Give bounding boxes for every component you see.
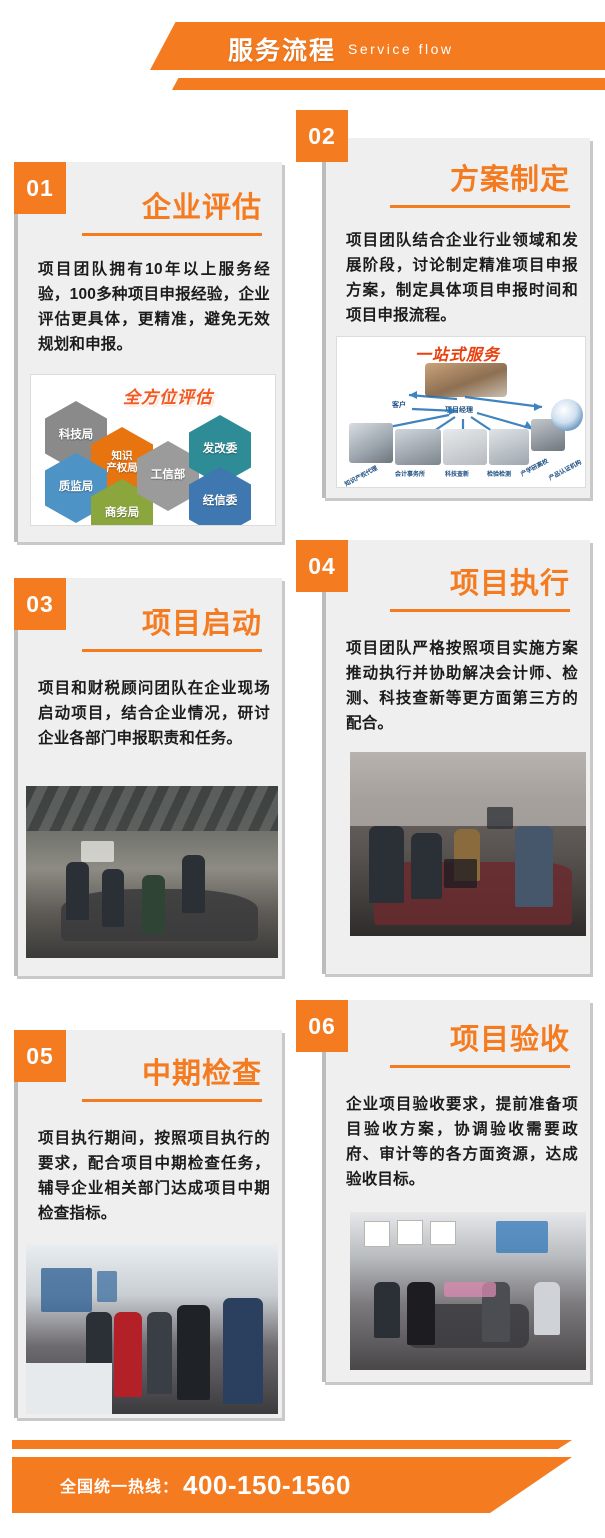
card-04-body: 项目团队严格按照项目实施方案推动执行并协助解决会计师、检测、科技查新等更方面第三… (346, 636, 578, 736)
conference-room-photo (26, 786, 278, 958)
card-02-badge: 02 (296, 110, 348, 162)
one-stop-node-ip (349, 423, 393, 463)
card-01[interactable]: 企业评估 项目团队拥有10年以上服务经验，100多种项目申报经验，企业评估更具体… (14, 162, 282, 542)
card-01-badge: 01 (14, 162, 66, 214)
card-05[interactable]: 中期检查 项目执行期间，按照项目执行的要求，配合项目中期检查任务，辅导企业相关部… (14, 1030, 282, 1418)
meeting-laptops-photo (350, 752, 586, 936)
hexagon-diagram-title: 全方位评估 (123, 383, 213, 408)
footer-hotline-label: 全国统一热线： (60, 1473, 179, 1497)
card-03-title: 项目启动 (82, 600, 262, 642)
card-02-title: 方案制定 (390, 156, 570, 198)
card-06-badge: 06 (296, 1000, 348, 1052)
footer-stripe (12, 1440, 572, 1449)
card-05-body: 项目执行期间，按照项目执行的要求，配合项目中期检查任务，辅导企业相关部门达成项目… (38, 1126, 270, 1226)
one-stop-node-accounting (395, 429, 441, 465)
card-06[interactable]: 项目验收 企业项目验收要求，提前准备项目验收方案，协调验收需要政府、审计等的各方… (322, 1000, 590, 1382)
header-bar-secondary (172, 78, 605, 90)
lobby-visit-photo (26, 1244, 278, 1414)
one-stop-node-testing (489, 429, 529, 465)
card-04-title-rule (390, 609, 570, 612)
hexagon-assessment-diagram: 全方位评估 科技局 知识产权局 质监局 商务局 工信部 发改委 经信委 (30, 374, 276, 526)
header-title-cn: 服务流程 (228, 31, 336, 67)
card-04-title: 项目执行 (390, 560, 570, 602)
one-stop-certification-seal (551, 399, 583, 431)
card-05-title-rule (82, 1099, 262, 1102)
card-01-title-rule (82, 233, 262, 236)
header-banner: 服务流程 Service flow (0, 0, 605, 112)
footer-hotline-group: 全国统一热线： 400-150-1560 (60, 1457, 351, 1513)
card-03-title-rule (82, 649, 262, 652)
header-title-en: Service flow (348, 41, 453, 57)
card-06-body: 企业项目验收要求，提前准备项目验收方案，协调验收需要政府、审计等的各方面资源，达… (346, 1092, 578, 1192)
card-04[interactable]: 项目执行 项目团队严格按照项目实施方案推动执行并协助解决会计师、检测、科技查新等… (322, 540, 590, 974)
one-stop-label-3: 检验检测 (487, 469, 511, 478)
card-05-title: 中期检查 (82, 1050, 262, 1092)
footer-hotline-number[interactable]: 400-150-1560 (183, 1470, 351, 1501)
one-stop-node-novelty (443, 429, 487, 465)
card-06-title-rule (390, 1065, 570, 1068)
card-03-body: 项目和财税顾问团队在企业现场启动项目，结合企业情况，研讨企业各部门申报职责和任务… (38, 676, 270, 751)
card-04-badge: 04 (296, 540, 348, 592)
card-02-body: 项目团队结合企业行业领域和发展阶段，讨论制定精准项目申报方案，制定具体项目申报时… (346, 228, 578, 328)
card-06-title: 项目验收 (390, 1016, 570, 1058)
card-03[interactable]: 项目启动 项目和财税顾问团队在企业现场启动项目，结合企业情况，研讨企业各部门申报… (14, 578, 282, 976)
header-title-group: 服务流程 Service flow (228, 28, 453, 70)
service-flow-infographic: 服务流程 Service flow 企业评估 项目团队拥有10年以上服务经验，1… (0, 0, 605, 1538)
card-05-badge: 05 (14, 1030, 66, 1082)
boardroom-acceptance-photo (350, 1212, 586, 1370)
card-03-badge: 03 (14, 578, 66, 630)
card-01-body: 项目团队拥有10年以上服务经验，100多种项目申报经验，企业评估更具体，更精准，… (38, 257, 270, 357)
one-stop-label-2: 科技查新 (445, 469, 469, 478)
card-02[interactable]: 方案制定 项目团队结合企业行业领域和发展阶段，讨论制定精准项目申报方案，制定具体… (322, 138, 590, 498)
one-stop-service-diagram: 一站式服务 客户 项目经理 (336, 336, 586, 488)
card-02-title-rule (390, 205, 570, 208)
card-01-title: 企业评估 (82, 184, 262, 226)
one-stop-label-1: 会计事务所 (395, 469, 425, 478)
